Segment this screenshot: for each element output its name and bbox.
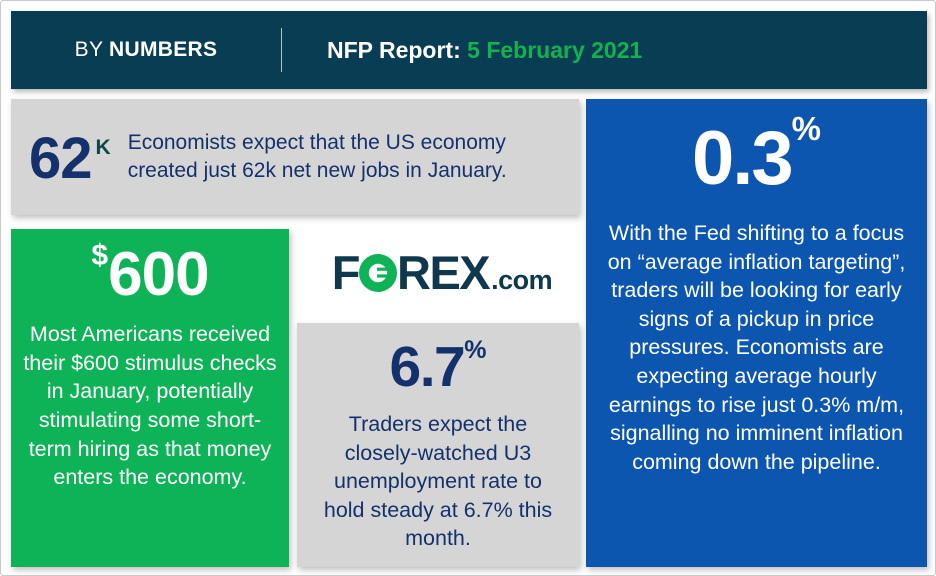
stat-number-stimulus: 600 [108,240,208,309]
stat-card-jobs: 62K Economists expect that the US econom… [11,99,579,215]
brand-title-main: NUMBERS [109,38,217,61]
forex-logo-suffix: .com [491,267,552,294]
header-divider [281,28,282,72]
forex-logo[interactable]: F REX .com [305,241,579,303]
stat-body-earnings: With the Fed shifting to a focus on “ave… [602,219,911,476]
stat-number-unemployment: 6.7 [390,335,465,399]
stat-number-earnings: 0.3 [692,116,792,201]
stat-body-jobs: Economists expect that the US economy cr… [128,129,565,184]
stat-unit-jobs: K [96,136,110,159]
report-title: NFP Report: 5 February 2021 [282,37,642,64]
stat-body-unemployment: Traders expect the closely-watched U3 un… [311,410,565,553]
forex-logo-text-right: REX [397,249,489,296]
forex-logo-inner: F REX .com [332,249,552,296]
forex-logo-text-left: F [332,249,359,296]
brand-title-prefix: BY [75,38,109,61]
stat-card-earnings: 0.3% With the Fed shifting to a focus on… [586,99,927,567]
brand-title: BY NUMBERS [11,38,281,62]
euro-circle-icon [358,253,398,293]
stat-number-jobs: 62 [29,126,92,191]
report-date: 5 February 2021 [467,37,642,63]
stat-unit-unemployment: % [464,336,486,364]
report-label: NFP Report: [327,37,467,63]
stat-body-stimulus: Most Americans received their $600 stimu… [23,320,277,492]
infographic-root: BY NUMBERS NFP Report: 5 February 2021 6… [0,0,936,576]
stat-unit-earnings: % [792,110,821,147]
stat-value-earnings: 0.3% [602,121,911,197]
stat-value-unemployment: 6.7% [311,339,565,396]
stat-currency-stimulus: $ [91,239,107,272]
stat-value-jobs: 62K [29,130,110,188]
stat-card-unemployment: 6.7% Traders expect the closely-watched … [297,323,579,567]
stat-card-stimulus: $600 Most Americans received their $600 … [11,229,289,567]
stat-value-stimulus: $600 [23,243,277,306]
header-bar: BY NUMBERS NFP Report: 5 February 2021 [11,11,927,89]
